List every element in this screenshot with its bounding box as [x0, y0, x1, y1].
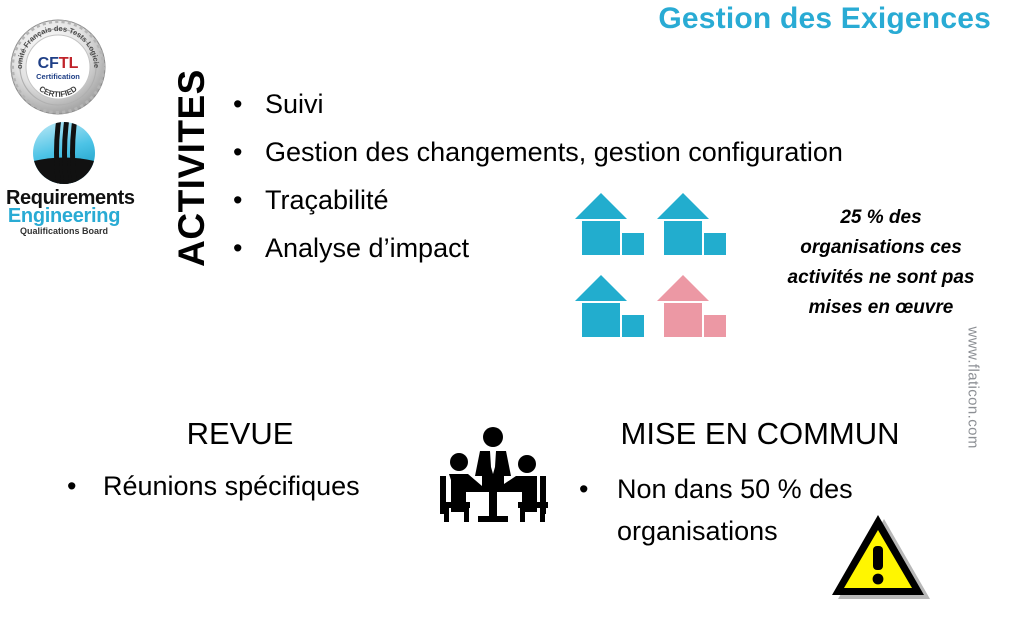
- house-icon: [657, 193, 725, 255]
- stat-note-line: 25 % des: [768, 203, 994, 233]
- ireb-sphere-icon: [31, 120, 97, 186]
- list-item-label: Suivi: [265, 89, 324, 119]
- stat-note: 25 % des organisations ces activités ne …: [768, 203, 994, 323]
- cftl-seal-icon: Comité Français des Tests Logiciels CERT…: [6, 15, 110, 119]
- house-annex: [622, 233, 644, 255]
- mise-en-commun-bullet-line1: Non dans 50 % des: [617, 468, 947, 510]
- bullet-icon: •: [67, 468, 76, 504]
- bullet-icon: •: [233, 176, 242, 224]
- ireb-line-qualifications-board: Qualifications Board: [6, 227, 122, 236]
- revue-heading: REVUE: [55, 414, 425, 454]
- page-title: Gestion des Exigences: [658, 2, 991, 36]
- ireb-line-engineering: Engineering: [6, 206, 122, 226]
- mise-en-commun-heading: MISE EN COMMUN: [565, 414, 955, 454]
- stat-note-line: activités ne sont pas: [768, 263, 994, 293]
- list-item-label: Analyse d’impact: [265, 233, 469, 263]
- house-icon: [575, 193, 643, 255]
- flaticon-watermark: www.flaticon.com: [965, 327, 982, 487]
- cftl-acronym: CFTL: [38, 55, 79, 72]
- house-icon: [575, 275, 643, 337]
- revue-bullet-item: • Réunions spécifiques: [55, 468, 425, 504]
- revue-block: REVUE • Réunions spécifiques: [55, 414, 425, 504]
- house-roof: [657, 275, 709, 301]
- list-item: • Suivi: [228, 80, 958, 128]
- ireb-logo-text: Requirements Engineering Qualifications …: [6, 188, 122, 236]
- list-item-label: Traçabilité: [265, 185, 389, 215]
- list-item: • Gestion des changements, gestion confi…: [228, 128, 958, 176]
- bullet-icon: •: [233, 128, 242, 176]
- house-body: [664, 303, 702, 337]
- house-roof: [575, 193, 627, 219]
- bullet-icon: •: [233, 224, 242, 272]
- house-annex: [622, 315, 644, 337]
- cftl-certification-seal-logo: Comité Français des Tests Logiciels CERT…: [6, 15, 110, 119]
- house-icon-highlighted: [657, 275, 725, 337]
- house-annex: [704, 315, 726, 337]
- house-body: [664, 221, 702, 255]
- stat-note-line: organisations ces: [768, 233, 994, 263]
- house-annex: [704, 233, 726, 255]
- bullet-icon: •: [233, 80, 242, 128]
- warning-triangle-icon: [826, 513, 936, 611]
- stat-note-line: mises en œuvre: [768, 293, 994, 323]
- house-body: [582, 303, 620, 337]
- activites-label-text: ACTIVITES: [171, 69, 213, 267]
- activites-vertical-label: ACTIVITES: [166, 78, 218, 258]
- house-roof: [575, 275, 627, 301]
- meeting-icon: [432, 424, 554, 524]
- houses-infographic: [575, 193, 725, 341]
- ireb-logo: Requirements Engineering Qualifications …: [6, 120, 122, 232]
- revue-bullet-label: Réunions spécifiques: [103, 471, 360, 501]
- house-roof: [657, 193, 709, 219]
- bullet-icon: •: [579, 468, 588, 510]
- list-item-label: Gestion des changements, gestion configu…: [265, 137, 843, 167]
- house-body: [582, 221, 620, 255]
- slide-canvas: Gestion des Exigences: [0, 0, 1009, 632]
- cftl-subtitle: Certification: [36, 72, 80, 81]
